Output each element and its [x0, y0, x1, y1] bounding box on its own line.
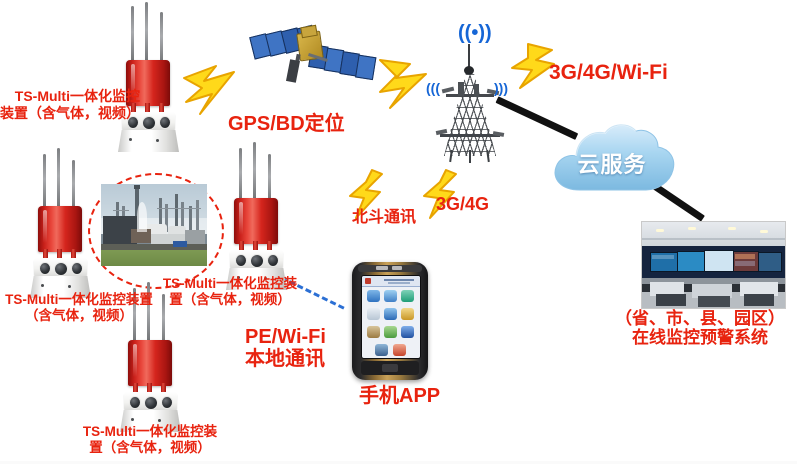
device-base-cone: [118, 130, 179, 152]
base-screw: [156, 139, 159, 142]
app-icon[interactable]: [367, 290, 380, 302]
control-room-photo: [641, 221, 786, 309]
label-3g4g-wifi: 3G/4G/Wi-Fi: [549, 60, 668, 86]
app-icon[interactable]: [375, 344, 388, 356]
sensor-port: [159, 116, 171, 129]
monitoring-device-top: [110, 2, 188, 152]
cell-tower-icon: ((•)) ((( ))): [430, 22, 510, 162]
label-beidou-comm: 北斗通讯: [352, 208, 416, 228]
antenna: [253, 142, 256, 202]
signal-wave-top: ((•)): [458, 22, 492, 45]
base-screw: [158, 419, 161, 422]
device-body: [38, 206, 82, 252]
antenna: [239, 148, 242, 202]
screen-status-bar: [362, 276, 420, 287]
app-icon[interactable]: [401, 326, 414, 338]
app-icon[interactable]: [367, 326, 380, 338]
petrochemical-plant-photo: [101, 184, 207, 266]
app-icon[interactable]: [384, 326, 397, 338]
sensor-port: [267, 254, 279, 267]
antenna: [268, 154, 271, 204]
label-gps-positioning: GPS/BD定位: [228, 112, 345, 136]
sensor-port: [144, 396, 158, 410]
monitoring-device-left: [22, 148, 100, 298]
app-icon[interactable]: [384, 308, 397, 320]
sensor-port: [250, 254, 264, 268]
antenna: [43, 154, 46, 210]
label-control-room: （省、市、县、园区） 在线监控预警系统: [612, 309, 788, 348]
label-device-bottom: TS-Multi一体化监控装 置（含气体，视频）: [80, 424, 220, 457]
sensor-port: [71, 262, 83, 275]
base-screw: [68, 285, 71, 288]
antenna: [131, 6, 134, 64]
antenna: [57, 148, 60, 210]
cloud-label: 云服务: [546, 147, 678, 179]
phone-screen[interactable]: [361, 275, 421, 359]
handheld-terminal-icon: [352, 262, 428, 380]
antenna: [72, 160, 75, 212]
app-icon[interactable]: [401, 308, 414, 320]
satellite-icon: [248, 14, 376, 86]
wireless-bolt-satellite-to-tower: [376, 58, 434, 110]
sensor-port: [161, 396, 173, 409]
monitoring-device-middle: [218, 140, 296, 290]
base-screw: [131, 418, 134, 421]
antenna: [160, 12, 163, 66]
device-body: [234, 198, 278, 244]
label-phone-app: 手机APP: [359, 384, 440, 408]
label-device-middle: TS-Multi一体化监控装 置（含气体，视频）: [160, 276, 300, 309]
cloud-service-icon: 云服务: [546, 120, 678, 198]
base-screw: [129, 138, 132, 141]
label-device-top: TS-Multi一体化监控 装置（含气体，视频）: [0, 88, 140, 122]
app-icon[interactable]: [384, 290, 397, 302]
label-device-left: TS-Multi一体化监控装置 （含气体，视频）: [2, 292, 156, 325]
label-3g4g: 3G/4G: [436, 194, 489, 216]
sensor-port: [142, 116, 156, 130]
label-local-comm: PE/Wi-Fi 本地通讯: [245, 326, 326, 371]
wireless-bolt-device-to-satellite: [182, 64, 242, 116]
app-icon[interactable]: [401, 290, 414, 302]
app-icon[interactable]: [393, 344, 406, 356]
antenna: [145, 2, 148, 64]
base-screw: [41, 284, 44, 287]
sensor-port: [129, 396, 141, 409]
sensor-port: [54, 262, 68, 276]
sensor-port: [39, 262, 51, 275]
sensor-port: [235, 254, 247, 267]
app-icon[interactable]: [367, 308, 380, 320]
network-architecture-diagram: ((•)) ((( ))) 云服务: [0, 0, 797, 464]
device-body: [128, 340, 172, 386]
signal-wave-right: ))): [494, 80, 508, 96]
